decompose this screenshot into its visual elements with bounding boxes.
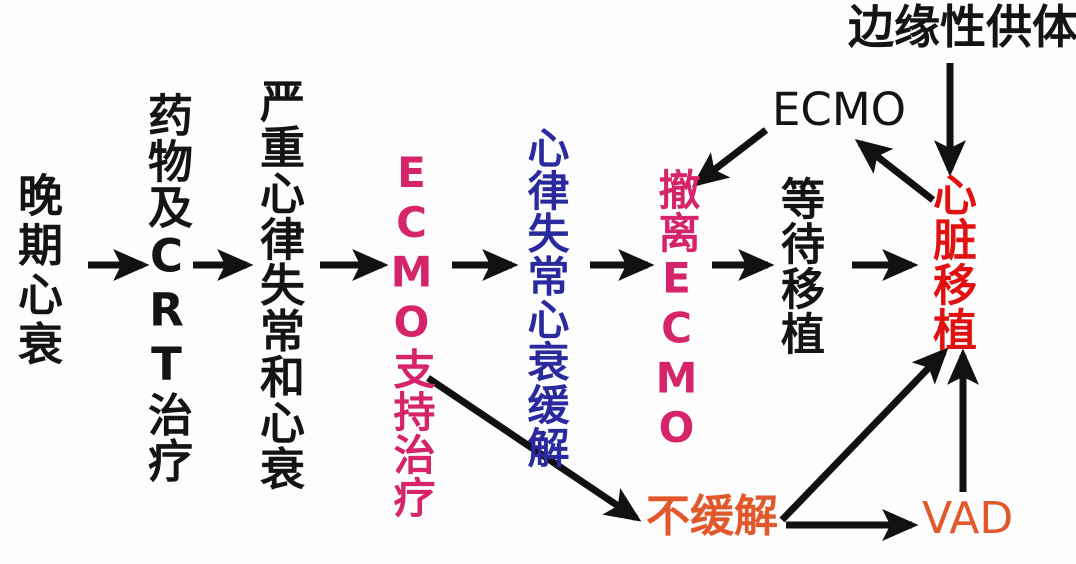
node-ecmo-bridge[interactable]: ECMO [772, 87, 906, 132]
edge-transplant-to-ecmo-bridge [860, 143, 933, 200]
node-drug-crt[interactable]: 药物及CRT治疗 [144, 92, 189, 483]
node-not-relieved[interactable]: 不缓解 [646, 495, 778, 539]
node-wean-ecmo[interactable]: 撤离ECMO [655, 168, 697, 453]
edge-ecmo-bridge-to-wean-ecmo [697, 130, 766, 183]
edge-not-relieved-to-transplant [782, 352, 944, 520]
flowchart-canvas: 晚期心衰 药物及CRT治疗 严重心律失常和心衰 ECMO支持治疗 心律失常心衰缓… [0, 0, 1076, 564]
node-marginal-donor[interactable]: 边缘性供体 [848, 4, 1076, 50]
node-ecmo-support[interactable]: ECMO支持治疗 [390, 148, 432, 519]
node-await-transplant[interactable]: 等待移植 [776, 176, 820, 356]
node-vad[interactable]: VAD [922, 497, 1013, 541]
node-severe-arrhythmia[interactable]: 严重心律失常和心衰 [256, 78, 301, 491]
node-late-heart-failure[interactable]: 晚期心衰 [14, 172, 59, 370]
node-arrhythmia-relieved[interactable]: 心律失常心衰缓解 [524, 126, 566, 469]
node-heart-transplant[interactable]: 心脏移植 [928, 172, 972, 352]
